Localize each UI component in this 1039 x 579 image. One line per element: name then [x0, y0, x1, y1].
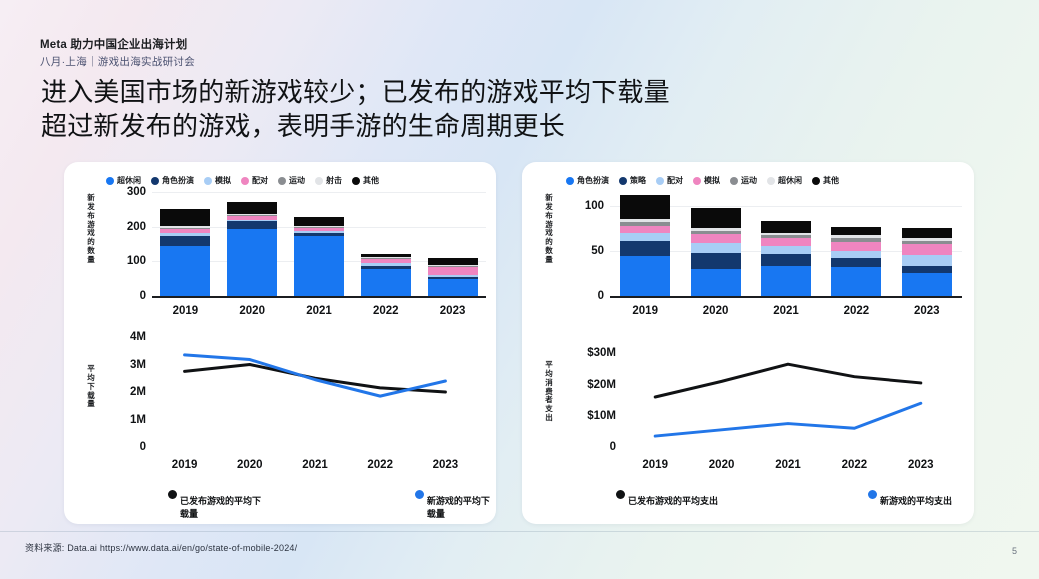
bar-2019 — [620, 192, 670, 296]
series-legend-swatch-icon — [168, 490, 177, 499]
x-axis-label: 2023 — [888, 459, 954, 471]
y-axis-title: 新发布游戏的数量 — [86, 194, 96, 265]
legend-label: 运动 — [289, 175, 305, 186]
legend-item-模拟: 模拟 — [693, 175, 720, 186]
legend-label: 运动 — [741, 175, 757, 186]
bar-segment-角色扮演 — [761, 266, 811, 296]
legend-item-模拟: 模拟 — [204, 175, 231, 186]
y-axis-tick: 100 — [127, 255, 146, 267]
legend-item-角色扮演: 角色扮演 — [566, 175, 609, 186]
event-subtitle: 八月·上海｜游戏出海实战研讨会 — [40, 54, 195, 69]
legend-swatch-icon — [241, 177, 249, 185]
legend-item-射击: 射击 — [315, 175, 342, 186]
legend-swatch-icon — [812, 177, 820, 185]
bar-segment-其他 — [227, 202, 277, 213]
x-axis-label: 2021 — [286, 305, 353, 317]
bar-segment-超休闲 — [294, 236, 344, 296]
series-legend-label: 新游戏的平均支出 — [880, 494, 952, 507]
legend-item-策略: 策略 — [619, 175, 646, 186]
bar-2023 — [902, 192, 952, 296]
bar-segment-策略 — [620, 241, 670, 256]
legend-swatch-icon — [730, 177, 738, 185]
legend-swatch-icon — [767, 177, 775, 185]
x-axis-label: 2021 — [755, 459, 821, 471]
bar-segment-其他 — [691, 208, 741, 228]
legend-item-角色扮演: 角色扮演 — [151, 175, 194, 186]
legend-item-其他: 其他 — [352, 175, 379, 186]
y-axis-tick: 0 — [598, 290, 604, 302]
bar-segment-配对 — [902, 255, 952, 266]
page-title: 进入美国市场的新游戏较少；已发布的游戏平均下载量 超过新发布的游戏，表明手游的生… — [41, 76, 670, 144]
y-axis-tick: 200 — [127, 221, 146, 233]
x-axis-label: 2020 — [688, 459, 754, 471]
line-chart-avg-downloads: 平均下载量01M2M3M4M20192020202120222023 — [86, 337, 486, 482]
bar-segment-策略 — [831, 258, 881, 267]
bar-chart-new-releases-downloads: 新发布游戏的数量010020030020192020202120222023 — [86, 192, 486, 314]
series-legend-swatch-icon — [415, 490, 424, 499]
x-axis-label: 2019 — [152, 459, 217, 471]
bar-2020 — [691, 192, 741, 296]
bar-segment-策略 — [761, 254, 811, 267]
bar-segment-配对 — [620, 233, 670, 241]
line-plot-area — [86, 337, 486, 451]
bar-segment-其他 — [294, 217, 344, 226]
bar-segment-角色扮演 — [620, 256, 670, 296]
series-legend-swatch-icon — [616, 490, 625, 499]
bar-segment-角色扮演 — [691, 269, 741, 296]
bar-segment-配对 — [691, 243, 741, 253]
y-axis-tick: 50 — [591, 245, 604, 257]
bar-segment-其他 — [831, 227, 881, 235]
x-axis-label: 2023 — [892, 305, 962, 317]
series-legend-item-0: 已发布游戏的平均支出 — [616, 487, 718, 507]
x-axis-label: 2022 — [821, 305, 891, 317]
legend-label: 超休闲 — [117, 175, 141, 186]
legend-label: 其他 — [823, 175, 839, 186]
legend-swatch-icon — [656, 177, 664, 185]
x-axis-label: 2022 — [821, 459, 887, 471]
bar-segment-超休闲 — [428, 279, 478, 296]
bar-segment-模拟 — [761, 238, 811, 246]
bar-chart-new-releases-spend: 新发布游戏的数量05010020192020202120222023 — [544, 192, 962, 314]
x-axis-label: 2021 — [751, 305, 821, 317]
bar-segment-超休闲 — [160, 246, 210, 296]
footer-divider — [0, 531, 1039, 532]
legend-swatch-icon — [352, 177, 360, 185]
line-series-0 — [655, 364, 921, 397]
legend-item-其他: 其他 — [812, 175, 839, 186]
y-axis-tick: 300 — [127, 186, 146, 198]
bar-segment-其他 — [160, 209, 210, 226]
x-axis-label: 2019 — [152, 305, 219, 317]
legend-label: 模拟 — [215, 175, 231, 186]
legend-swatch-icon — [693, 177, 701, 185]
legend-label: 配对 — [667, 175, 683, 186]
x-axis-label: 2019 — [622, 459, 688, 471]
x-axis-label: 2023 — [413, 459, 478, 471]
legend-label: 射击 — [326, 175, 342, 186]
legend-item-超休闲: 超休闲 — [106, 175, 141, 186]
bar-segment-模拟 — [691, 234, 741, 243]
legend-label: 角色扮演 — [162, 175, 194, 186]
bar-segment-其他 — [761, 221, 811, 233]
bar-segment-策略 — [691, 253, 741, 269]
series-legend-swatch-icon — [868, 490, 877, 499]
legend-swatch-icon — [619, 177, 627, 185]
bar-segment-角色扮演 — [831, 267, 881, 296]
bar-segment-配对 — [831, 251, 881, 258]
x-axis-label: 2023 — [419, 305, 486, 317]
legend-item-配对: 配对 — [241, 175, 268, 186]
x-axis-line — [610, 296, 962, 298]
x-axis-label: 2022 — [348, 459, 413, 471]
series-legend-item-0: 已发布游戏的平均下载量 — [168, 487, 265, 520]
x-axis-label: 2020 — [680, 305, 750, 317]
bar-segment-角色扮演 — [902, 273, 952, 297]
bar-segment-配对 — [761, 246, 811, 253]
line-chart-avg-spend: 平均消费者支出0$10M$20M$30M20192020202120222023 — [544, 347, 962, 492]
legend-item-运动: 运动 — [730, 175, 757, 186]
bar-segment-角色扮演 — [160, 236, 210, 247]
legend-swatch-icon — [106, 177, 114, 185]
bar-2021 — [294, 192, 344, 296]
line-series-1 — [655, 403, 921, 436]
bar-2022 — [831, 192, 881, 296]
bar-2021 — [761, 192, 811, 296]
bar-segment-配对 — [428, 267, 478, 275]
x-axis-label: 2020 — [219, 305, 286, 317]
category-legend-downloads: 超休闲角色扮演模拟配对运动射击其他 — [106, 175, 379, 186]
x-axis-label: 2022 — [352, 305, 419, 317]
bar-2023 — [428, 192, 478, 296]
series-legend-item-1: 新游戏的平均下载量 — [415, 487, 496, 520]
x-axis-line — [152, 296, 486, 298]
x-axis-label: 2021 — [282, 459, 347, 471]
page-number: 5 — [1012, 546, 1017, 556]
legend-swatch-icon — [566, 177, 574, 185]
legend-label: 策略 — [630, 175, 646, 186]
source-note: 资料来源: Data.ai https://www.data.ai/en/go/… — [25, 541, 297, 554]
bar-2020 — [227, 192, 277, 296]
y-axis-tick: 100 — [585, 200, 604, 212]
legend-item-配对: 配对 — [656, 175, 683, 186]
bar-2019 — [160, 192, 210, 296]
x-axis-label: 2019 — [610, 305, 680, 317]
series-legend-avg-downloads: 已发布游戏的平均下载量新游戏的平均下载量 — [168, 487, 496, 520]
bar-segment-其他 — [620, 195, 670, 219]
line-series-1 — [185, 355, 446, 396]
line-plot-area — [544, 347, 962, 451]
series-legend-avg-spend: 已发布游戏的平均支出新游戏的平均支出 — [616, 487, 952, 507]
legend-swatch-icon — [151, 177, 159, 185]
legend-label: 模拟 — [704, 175, 720, 186]
series-legend-label: 新游戏的平均下载量 — [427, 494, 496, 520]
series-legend-label: 已发布游戏的平均支出 — [628, 494, 718, 507]
series-legend-item-1: 新游戏的平均支出 — [868, 487, 952, 507]
y-axis-tick: 0 — [140, 290, 146, 302]
legend-item-运动: 运动 — [278, 175, 305, 186]
left-chart-panel: 超休闲角色扮演模拟配对运动射击其他 新发布游戏的数量01002003002019… — [64, 162, 496, 524]
right-chart-panel: 角色扮演策略配对模拟运动超休闲其他 新发布游戏的数量05010020192020… — [522, 162, 974, 524]
bar-segment-超休闲 — [361, 269, 411, 296]
bar-2022 — [361, 192, 411, 296]
bar-segment-其他 — [902, 228, 952, 238]
legend-swatch-icon — [278, 177, 286, 185]
legend-swatch-icon — [204, 177, 212, 185]
category-legend-spend: 角色扮演策略配对模拟运动超休闲其他 — [566, 175, 839, 186]
series-legend-label: 已发布游戏的平均下载量 — [180, 494, 265, 520]
legend-item-超休闲: 超休闲 — [767, 175, 802, 186]
x-axis-label: 2020 — [217, 459, 282, 471]
legend-swatch-icon — [315, 177, 323, 185]
y-axis-title: 新发布游戏的数量 — [544, 194, 554, 265]
bar-segment-其他 — [428, 258, 478, 265]
bar-segment-超休闲 — [227, 229, 277, 296]
bar-segment-模拟 — [831, 242, 881, 251]
legend-label: 角色扮演 — [577, 175, 609, 186]
legend-label: 超休闲 — [778, 175, 802, 186]
brand-line: Meta 助力中国企业出海计划 — [40, 36, 187, 52]
legend-label: 其他 — [363, 175, 379, 186]
legend-label: 配对 — [252, 175, 268, 186]
bar-segment-模拟 — [620, 226, 670, 233]
bar-segment-模拟 — [902, 244, 952, 256]
bar-segment-角色扮演 — [227, 221, 277, 229]
